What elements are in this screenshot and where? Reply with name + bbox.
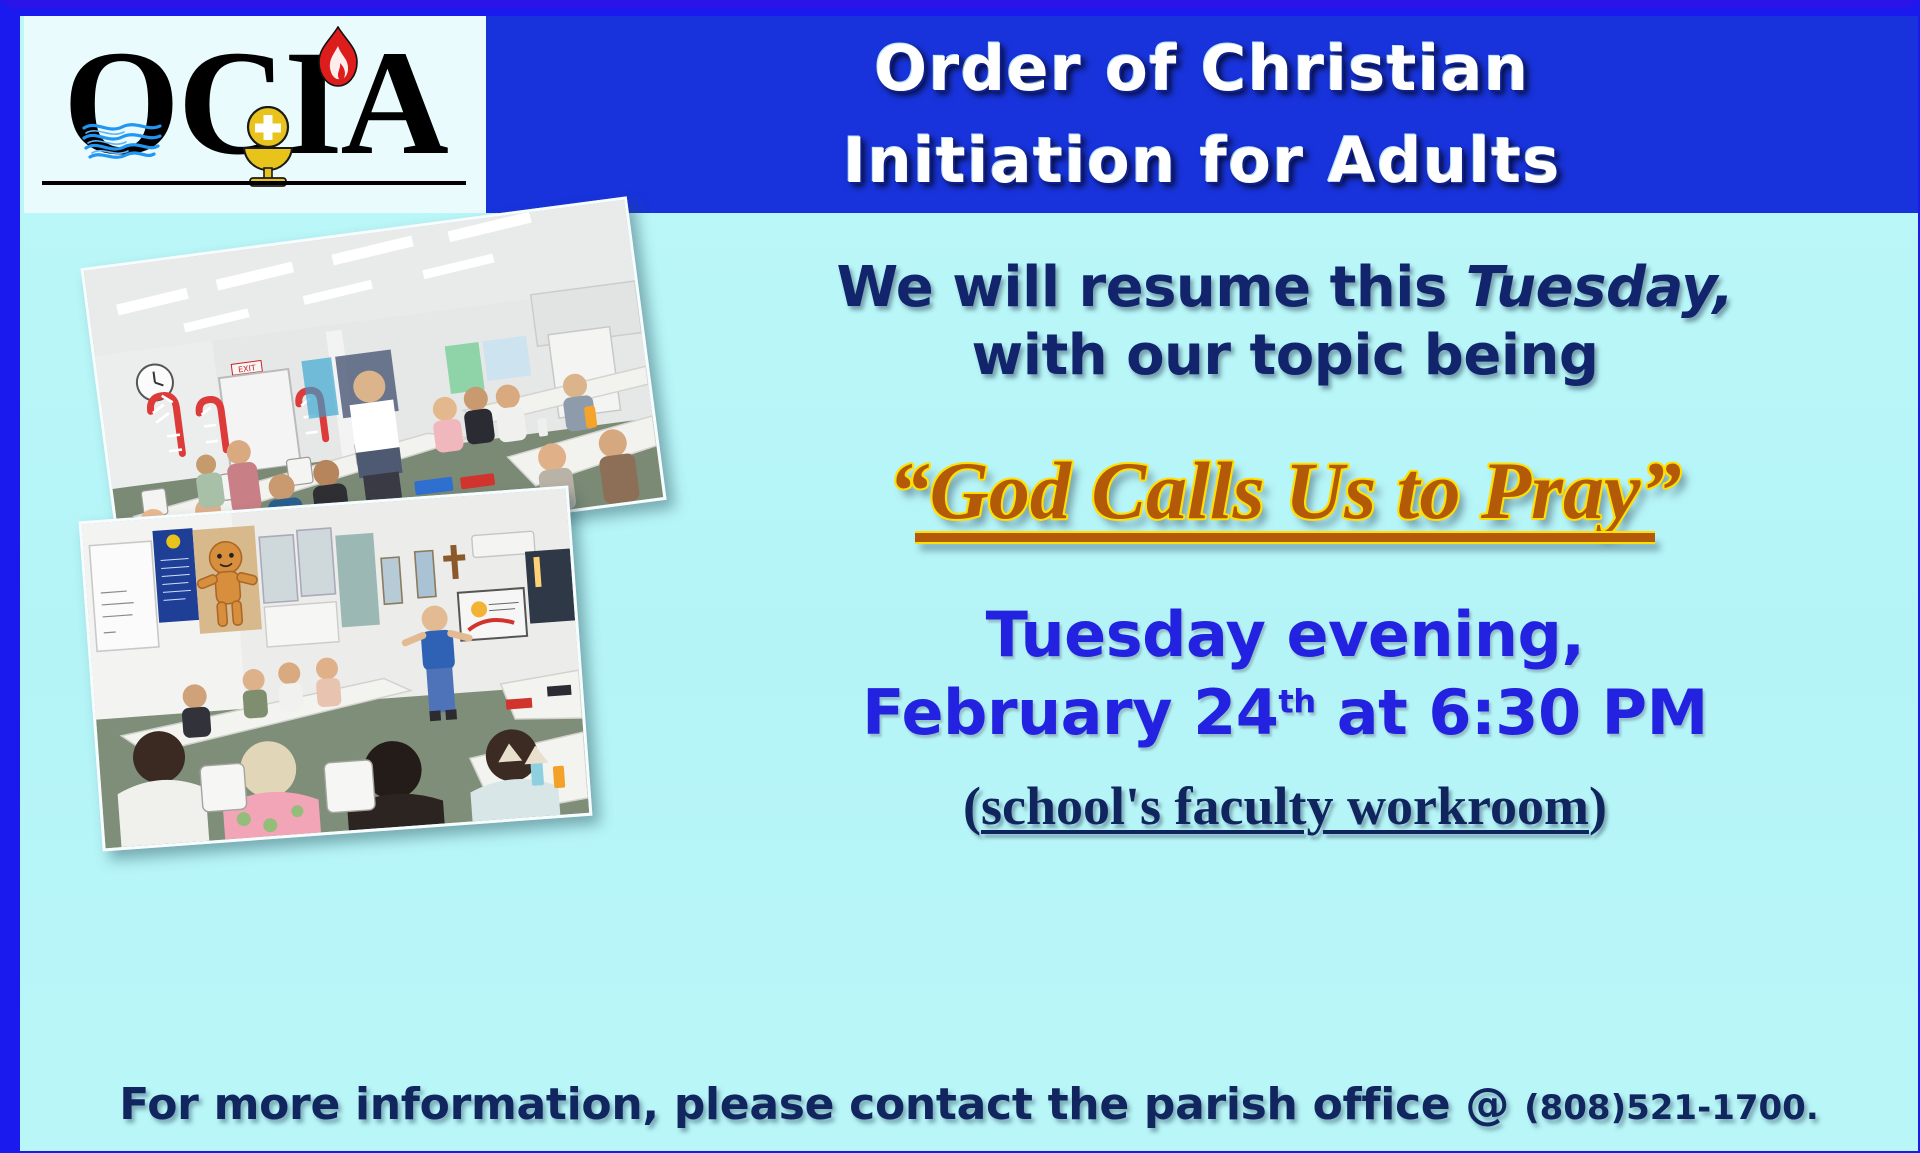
- intro-line-1-a: We will resume this: [836, 255, 1465, 320]
- logo-underline: [42, 181, 466, 185]
- header-title-line2: Initiation for Adults: [843, 115, 1561, 207]
- flame-icon: [316, 26, 360, 88]
- event-location-open-paren: (: [963, 776, 981, 836]
- photo-collage: EXIT: [20, 213, 700, 913]
- water-waves-icon: [82, 120, 162, 164]
- event-datetime: Tuesday evening, February 24th at 6:30 P…: [660, 596, 1910, 752]
- intro-line-1: We will resume this Tuesday,: [660, 254, 1910, 322]
- poster-canvas: OCIA: [20, 16, 1918, 1151]
- event-date: February 24: [862, 676, 1278, 749]
- photo-bottom-image: [82, 489, 589, 849]
- footer-contact: For more information, please contact the…: [20, 1078, 1918, 1135]
- event-date-ordinal: th: [1278, 682, 1315, 720]
- ocia-logo-wrap: OCIA: [40, 22, 470, 207]
- event-day: Tuesday evening,: [660, 596, 1910, 674]
- footer-text: For more information, please contact the…: [119, 1079, 1524, 1130]
- intro-line-2: with our topic being: [660, 322, 1910, 390]
- header-title: Order of Christian Initiation for Adults: [486, 16, 1918, 213]
- event-location-text: school's faculty workroom: [981, 776, 1589, 836]
- intro-text: We will resume this Tuesday, with our to…: [660, 254, 1910, 390]
- intro-line-1-emphasis: Tuesday,: [1466, 255, 1734, 320]
- topic-underline: [915, 533, 1655, 542]
- event-location-close-paren: ): [1589, 776, 1607, 836]
- event-date-time: February 24th at 6:30 PM: [660, 674, 1910, 752]
- ocia-logo: OCIA: [24, 16, 486, 213]
- main-content: We will resume this Tuesday, with our to…: [660, 226, 1910, 1056]
- event-location: (school's faculty workroom): [660, 774, 1910, 838]
- photo-classroom-bottom: [79, 485, 593, 851]
- poster: OCIA: [0, 0, 1920, 1153]
- topic-title-wrap: “God Calls Us to Pray”: [660, 442, 1910, 540]
- header-title-line1: Order of Christian: [874, 23, 1529, 115]
- event-time: at 6:30 PM: [1316, 676, 1708, 749]
- poster-header: OCIA: [20, 16, 1918, 213]
- chalice-icon: [236, 106, 300, 188]
- topic-title: “God Calls Us to Pray”: [889, 442, 1682, 540]
- footer-phone: (808)521-1700.: [1524, 1088, 1819, 1128]
